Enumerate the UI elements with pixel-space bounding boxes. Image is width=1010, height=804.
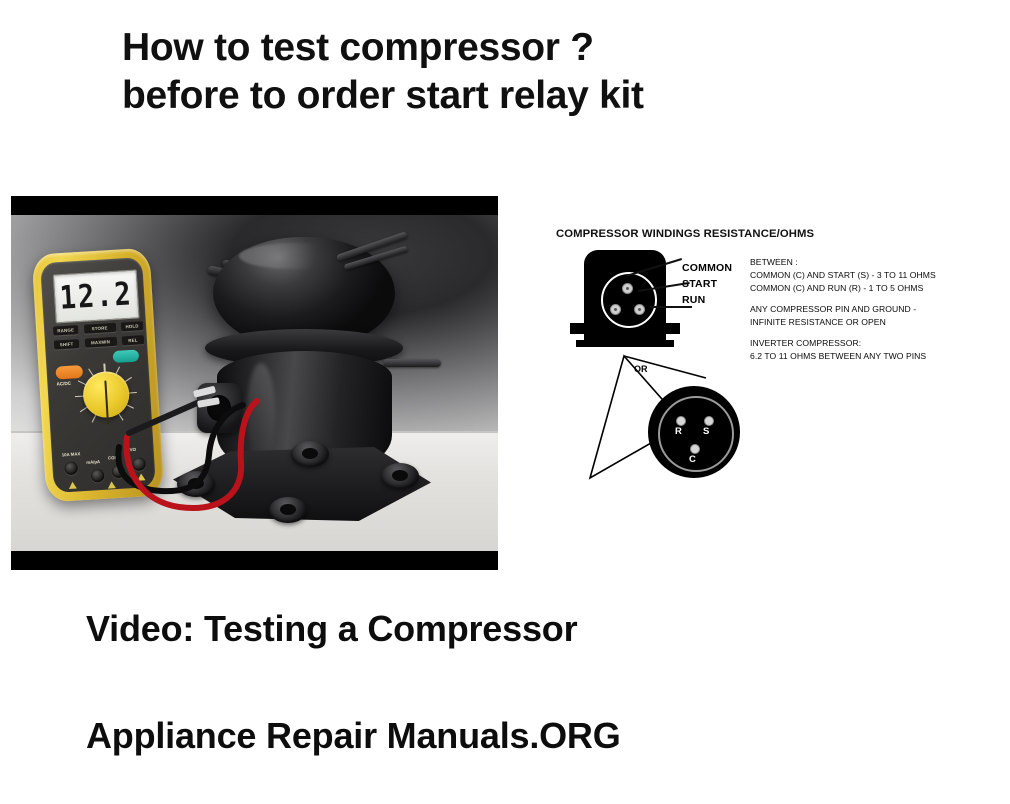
spec-inverter-line: 6.2 TO 11 OHMS BETWEEN ANY TWO PINS [750, 350, 990, 363]
spec-ground-line-1: ANY COMPRESSOR PIN AND GROUND - [750, 303, 990, 316]
pin-start [634, 304, 645, 315]
spec-inverter-header: INVERTER COMPRESSOR: [750, 337, 990, 350]
spec-between-header: BETWEEN : [750, 256, 990, 269]
or-label: OR [634, 364, 648, 374]
pin-run [610, 304, 621, 315]
terminal-plug-view: R S C [648, 386, 740, 478]
headline-line-1: How to test compressor ? [122, 26, 594, 69]
pin-common [622, 283, 633, 294]
plug-label-r: R [675, 426, 682, 437]
site-caption: Appliance Repair Manuals.ORG [86, 715, 621, 757]
spec-ground-line-2: INFINITE RESISTANCE OR OPEN [750, 316, 990, 329]
spec-block-between: BETWEEN : COMMON (C) AND START (S) - 3 T… [750, 256, 990, 295]
terminal-circle [601, 272, 657, 328]
diagram-title: COMPRESSOR WINDINGS RESISTANCE/OHMS [556, 228, 996, 240]
callout-common: COMMON [682, 262, 732, 274]
plug-pin-c [690, 444, 700, 454]
leader-line-run [650, 306, 692, 308]
plug-inner-ring [658, 396, 734, 472]
plug-label-c: C [689, 454, 696, 465]
black-probe-tip [129, 403, 197, 433]
page-headline: How to test compressor ? before to order… [122, 24, 882, 119]
alligator-clip [197, 397, 220, 408]
spec-block-ground: ANY COMPRESSOR PIN AND GROUND - INFINITE… [750, 303, 990, 329]
test-lead-wires [11, 215, 498, 551]
resistance-spec-text: BETWEEN : COMMON (C) AND START (S) - 3 T… [750, 256, 990, 371]
red-test-lead [126, 401, 257, 508]
plug-label-s: S [703, 426, 709, 437]
spec-common-run: COMMON (C) AND RUN (R) - 1 TO 5 OHMS [750, 282, 990, 295]
compressor-lug-left [570, 323, 586, 334]
video-caption: Video: Testing a Compressor [86, 608, 577, 650]
video-thumbnail-panel[interactable]: 12.2 RANGE STORE HOLD SHIFT MAXMIN REL A… [11, 196, 498, 570]
callout-start: START [682, 278, 717, 290]
compressor-base [576, 340, 674, 347]
spec-common-start: COMMON (C) AND START (S) - 3 TO 11 OHMS [750, 269, 990, 282]
headline-line-2: before to order start relay kit [122, 72, 882, 120]
photo-scene: 12.2 RANGE STORE HOLD SHIFT MAXMIN REL A… [11, 215, 498, 551]
compressor-lug-right [664, 323, 680, 334]
plug-pin-r [676, 416, 686, 426]
winding-resistance-diagram: COMPRESSOR WINDINGS RESISTANCE/OHMS COMM… [556, 228, 996, 508]
callout-run: RUN [682, 294, 705, 306]
alligator-clip [193, 386, 216, 398]
spec-block-inverter: INVERTER COMPRESSOR: 6.2 TO 11 OHMS BETW… [750, 337, 990, 363]
plug-pin-s [704, 416, 714, 426]
